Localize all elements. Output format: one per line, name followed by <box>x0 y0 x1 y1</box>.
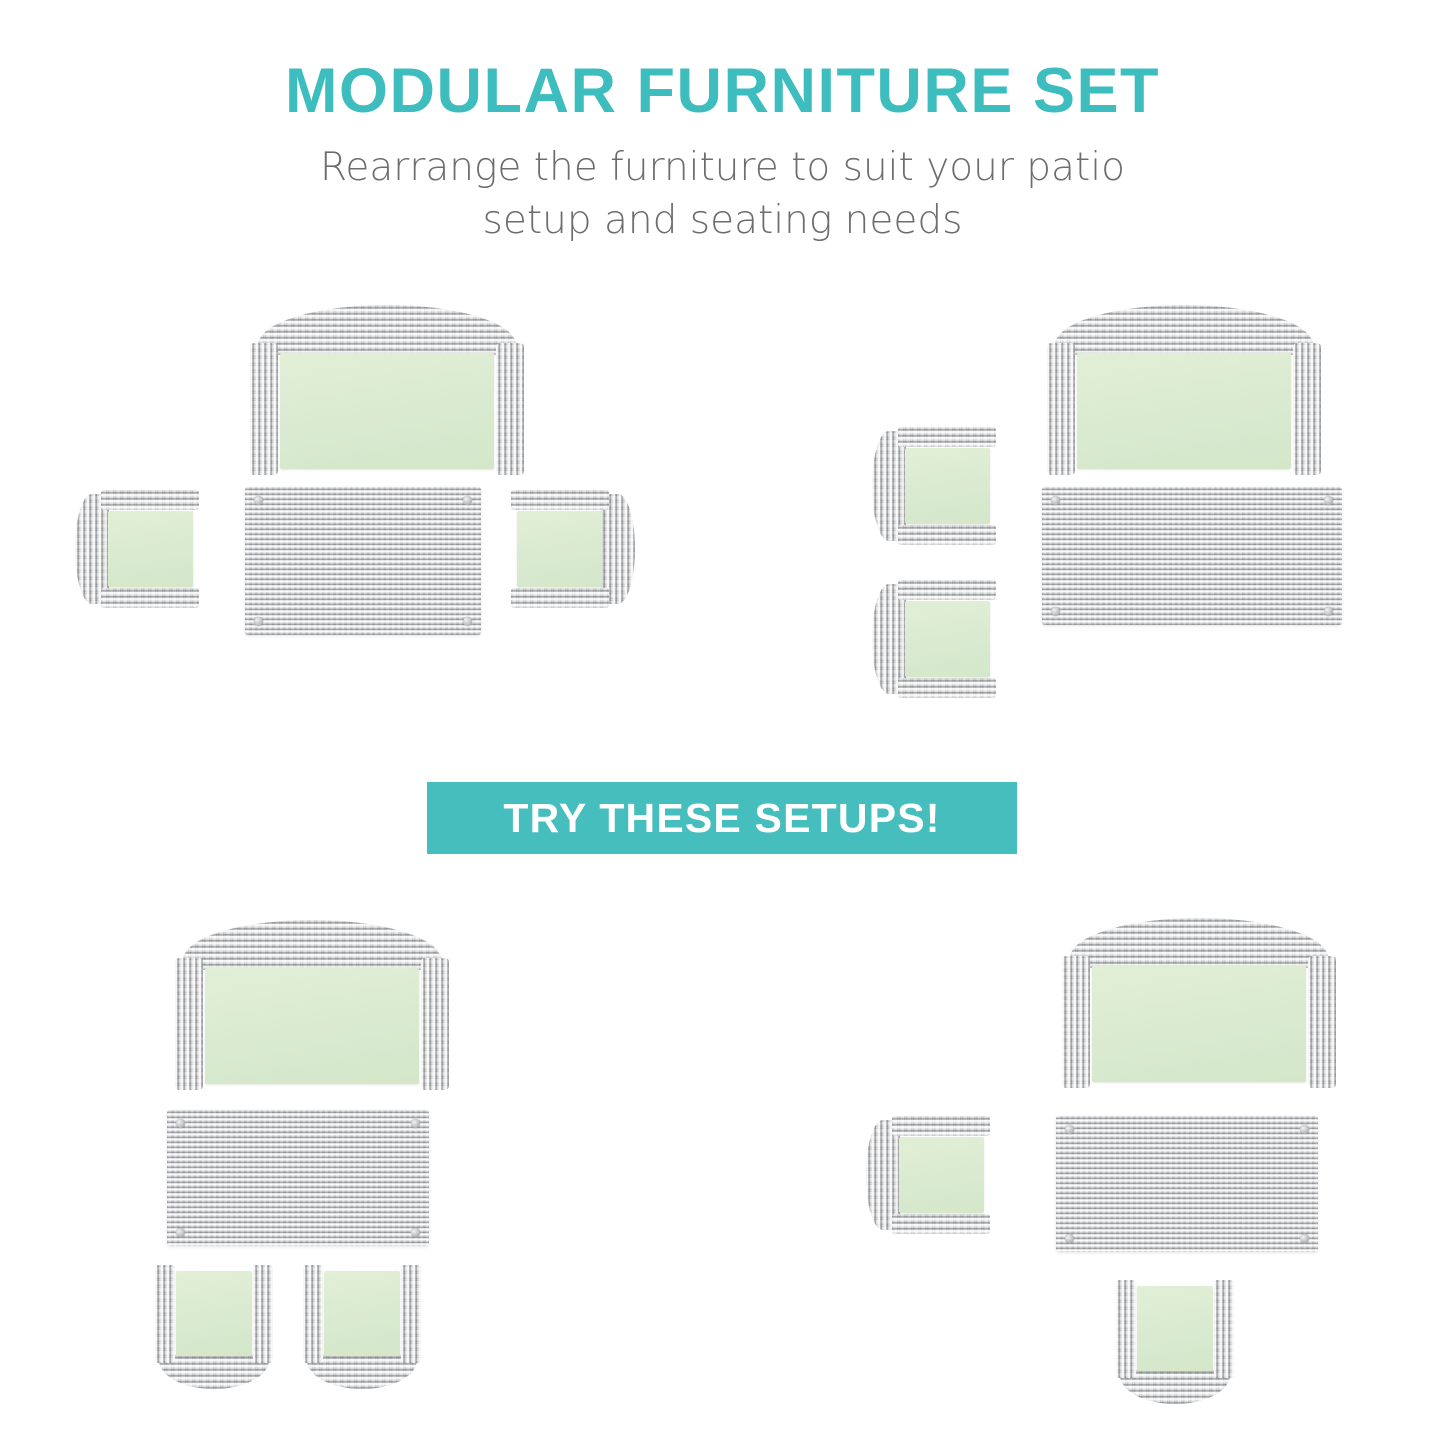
chair-arm-bottom <box>511 588 609 608</box>
sofa[interactable] <box>1062 918 1336 1088</box>
sofa-arm-left <box>1047 343 1075 475</box>
table-bolt-icon <box>1065 1234 1074 1243</box>
table-bolt-icon <box>176 1228 185 1237</box>
chair-right[interactable] <box>511 490 635 608</box>
chair-arm-bottom <box>892 1214 990 1234</box>
table-bolt-icon <box>254 617 263 626</box>
chair-left[interactable] <box>75 490 199 608</box>
chair-arm-left <box>1116 1280 1136 1378</box>
sofa-arm-left <box>250 343 278 475</box>
table-bolt-icon <box>1300 1125 1309 1134</box>
chair-arm-right <box>1214 1280 1234 1378</box>
sofa-arm-left <box>1062 956 1090 1088</box>
coffee-table[interactable] <box>1056 1116 1318 1252</box>
table-bolt-icon <box>254 496 263 505</box>
chair-lower-left[interactable] <box>872 580 996 698</box>
table-bolt-icon <box>1324 607 1333 616</box>
chair-arm-left <box>303 1265 323 1363</box>
chair-bottom-left[interactable] <box>155 1265 273 1389</box>
sofa-arm-right <box>1308 956 1336 1088</box>
coffee-table[interactable] <box>1042 487 1342 625</box>
try-these-setups-banner: TRY THESE SETUPS! <box>427 782 1017 854</box>
chair-seat-cushion <box>324 1271 400 1356</box>
arrangement-top-right <box>872 305 1342 720</box>
table-bolt-icon <box>1065 1125 1074 1134</box>
sofa-seat-cushion <box>1077 353 1291 469</box>
sofa-seat-cushion <box>280 353 494 469</box>
chair-arm-bottom <box>898 678 996 698</box>
chair-arm-top <box>892 1116 990 1136</box>
table-bolt-icon <box>176 1119 185 1128</box>
arrangement-top-left <box>75 305 695 650</box>
chair-left[interactable] <box>866 1116 990 1234</box>
coffee-table[interactable] <box>245 487 481 635</box>
try-these-setups-label: TRY THESE SETUPS! <box>503 795 940 842</box>
arrangement-bottom-right <box>866 918 1346 1418</box>
table-bolt-icon <box>1051 496 1060 505</box>
arrangement-bottom-left <box>155 920 475 1420</box>
sofa-arm-right <box>1293 343 1321 475</box>
table-bolt-icon <box>1324 496 1333 505</box>
chair-bottom-right[interactable] <box>303 1265 421 1389</box>
chair-arm-left <box>155 1265 175 1363</box>
chair-seat-cushion <box>517 511 602 587</box>
chair-arm-right <box>401 1265 421 1363</box>
sofa-seat-cushion <box>205 968 419 1084</box>
chair-arm-top <box>101 490 199 510</box>
chair-arm-top <box>511 490 609 510</box>
coffee-table[interactable] <box>167 1110 429 1246</box>
sofa[interactable] <box>250 305 524 475</box>
sofa-arm-right <box>496 343 524 475</box>
table-bolt-icon <box>463 496 472 505</box>
sofa-seat-cushion <box>1092 966 1306 1082</box>
chair-arm-top <box>898 580 996 600</box>
chair-seat-cushion <box>176 1271 252 1356</box>
sofa-arm-right <box>421 958 449 1090</box>
chair-arm-right <box>253 1265 273 1363</box>
table-bolt-icon <box>1300 1234 1309 1243</box>
chair-arm-bottom <box>898 525 996 545</box>
sofa-arm-left <box>175 958 203 1090</box>
chair-seat-cushion <box>1137 1286 1213 1371</box>
sofa-backrest <box>1055 305 1313 355</box>
sofa-backrest <box>258 305 516 355</box>
chair-seat-cushion <box>108 511 193 587</box>
table-bolt-icon <box>411 1228 420 1237</box>
chair-arm-top <box>898 427 996 447</box>
chair-upper-left[interactable] <box>872 427 996 545</box>
sofa[interactable] <box>175 920 449 1090</box>
sofa-backrest <box>183 920 441 970</box>
chair-bottom[interactable] <box>1116 1280 1234 1404</box>
table-bolt-icon <box>1051 607 1060 616</box>
header: MODULAR FURNITURE SET Rearrange the furn… <box>0 0 1445 247</box>
page-subtitle: Rearrange the furniture to suit your pat… <box>273 142 1173 247</box>
sofa[interactable] <box>1047 305 1321 475</box>
chair-seat-cushion <box>905 448 990 524</box>
chair-seat-cushion <box>899 1137 984 1213</box>
chair-seat-cushion <box>905 601 990 677</box>
table-bolt-icon <box>463 617 472 626</box>
table-bolt-icon <box>411 1119 420 1128</box>
sofa-backrest <box>1070 918 1328 968</box>
chair-arm-bottom <box>101 588 199 608</box>
page-title: MODULAR FURNITURE SET <box>0 58 1445 124</box>
